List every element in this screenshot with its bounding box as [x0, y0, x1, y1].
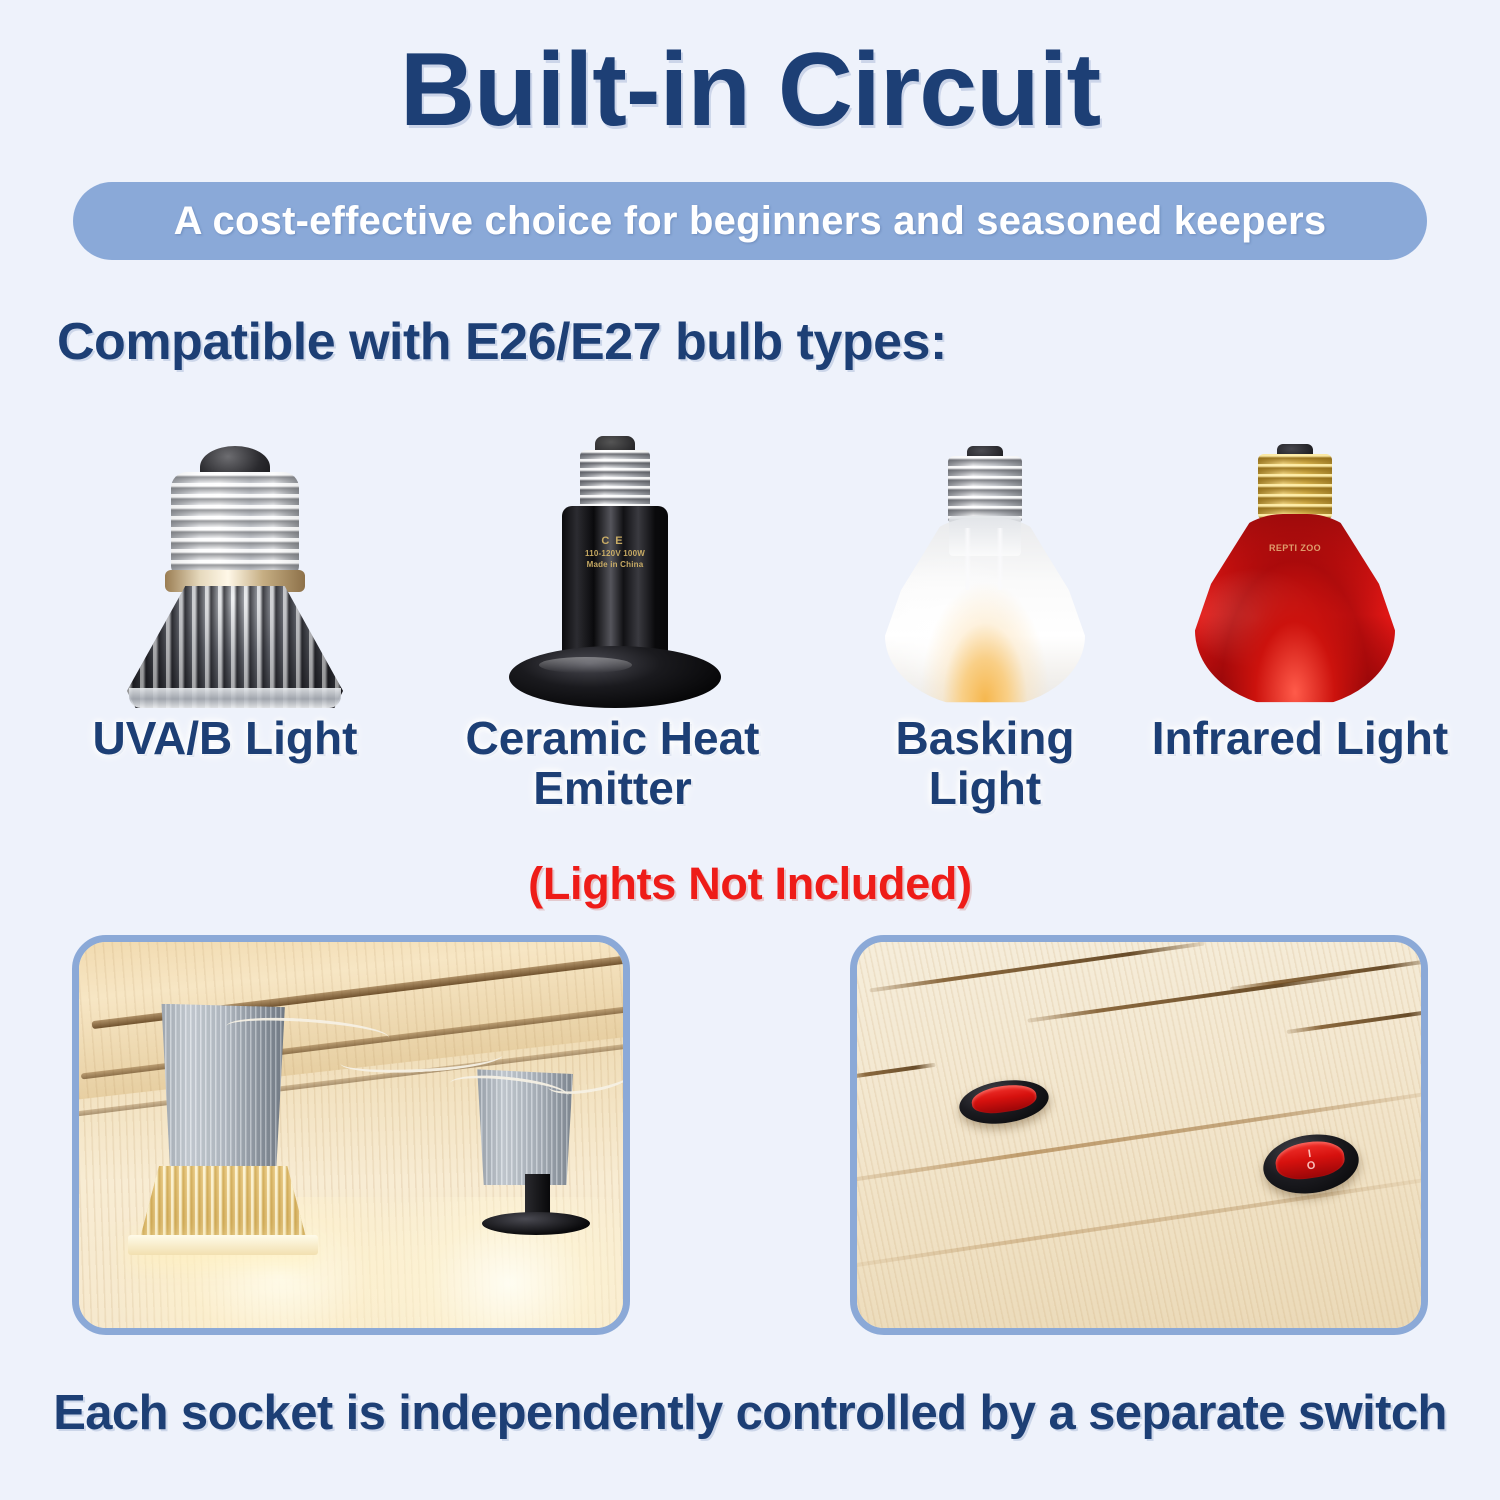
ceramic-heat-emitter-icon: CE 110-120V 100W Made in China	[509, 436, 721, 708]
screw-base	[171, 472, 299, 576]
subtitle-banner: A cost-effective choice for beginners an…	[73, 182, 1427, 260]
page-title: Built-in Circuit	[0, 34, 1500, 146]
compatibility-heading: Compatible with E26/E27 bulb types:	[57, 312, 947, 372]
bulb-label-infrared: Infrared Light	[1150, 714, 1450, 764]
filament-shadow	[956, 528, 1014, 590]
glowing-reflector-bulb	[139, 1166, 308, 1243]
bulb-item-uva-b	[85, 408, 385, 708]
sockets-inside-enclosure-photo	[72, 935, 630, 1335]
basking-bulb-icon	[885, 446, 1085, 708]
lens-rim	[129, 688, 341, 708]
subtitle-text: A cost-effective choice for beginners an…	[174, 199, 1327, 244]
ceramic-markings: CE 110-120V 100W Made in China	[565, 534, 665, 570]
photo-content: IO	[857, 942, 1421, 1328]
ce-mark: CE	[565, 534, 665, 549]
infrared-brand-text: REPTI ZOO	[1240, 542, 1350, 556]
bulb-label-row: UVA/B Light Ceramic Heat Emitter Basking…	[0, 714, 1500, 834]
bulb-label-basking: Basking Light	[835, 714, 1135, 813]
brass-screw-base	[1258, 454, 1332, 520]
bulb-item-ceramic: CE 110-120V 100W Made in China	[465, 408, 765, 708]
screw-base	[948, 456, 1022, 524]
bulb-gallery: CE 110-120V 100W Made in China REPTI ZOO	[0, 408, 1500, 708]
reflector-rim	[128, 1235, 318, 1254]
lights-not-included-notice: (Lights Not Included)	[0, 858, 1500, 910]
footer-caption: Each socket is independently controlled …	[0, 1385, 1500, 1441]
rocker-switches-on-wood-panel-photo: IO	[850, 935, 1428, 1335]
bulb-label-uva-b: UVA/B Light	[30, 714, 420, 764]
screw-base	[580, 450, 650, 512]
ceramic-flange-base	[509, 646, 721, 708]
ceramic-rating-text: 110-120V 100W	[565, 549, 665, 560]
photo-content	[79, 942, 623, 1328]
uva-b-spot-bulb-icon	[127, 446, 343, 708]
bulb-item-basking	[835, 408, 1135, 708]
bulb-item-infrared: REPTI ZOO	[1145, 408, 1445, 708]
infrared-bulb-icon: REPTI ZOO	[1195, 444, 1395, 708]
ceramic-origin-text: Made in China	[565, 560, 665, 571]
bulb-label-ceramic: Ceramic Heat Emitter	[425, 714, 800, 813]
ceramic-body	[562, 506, 668, 656]
